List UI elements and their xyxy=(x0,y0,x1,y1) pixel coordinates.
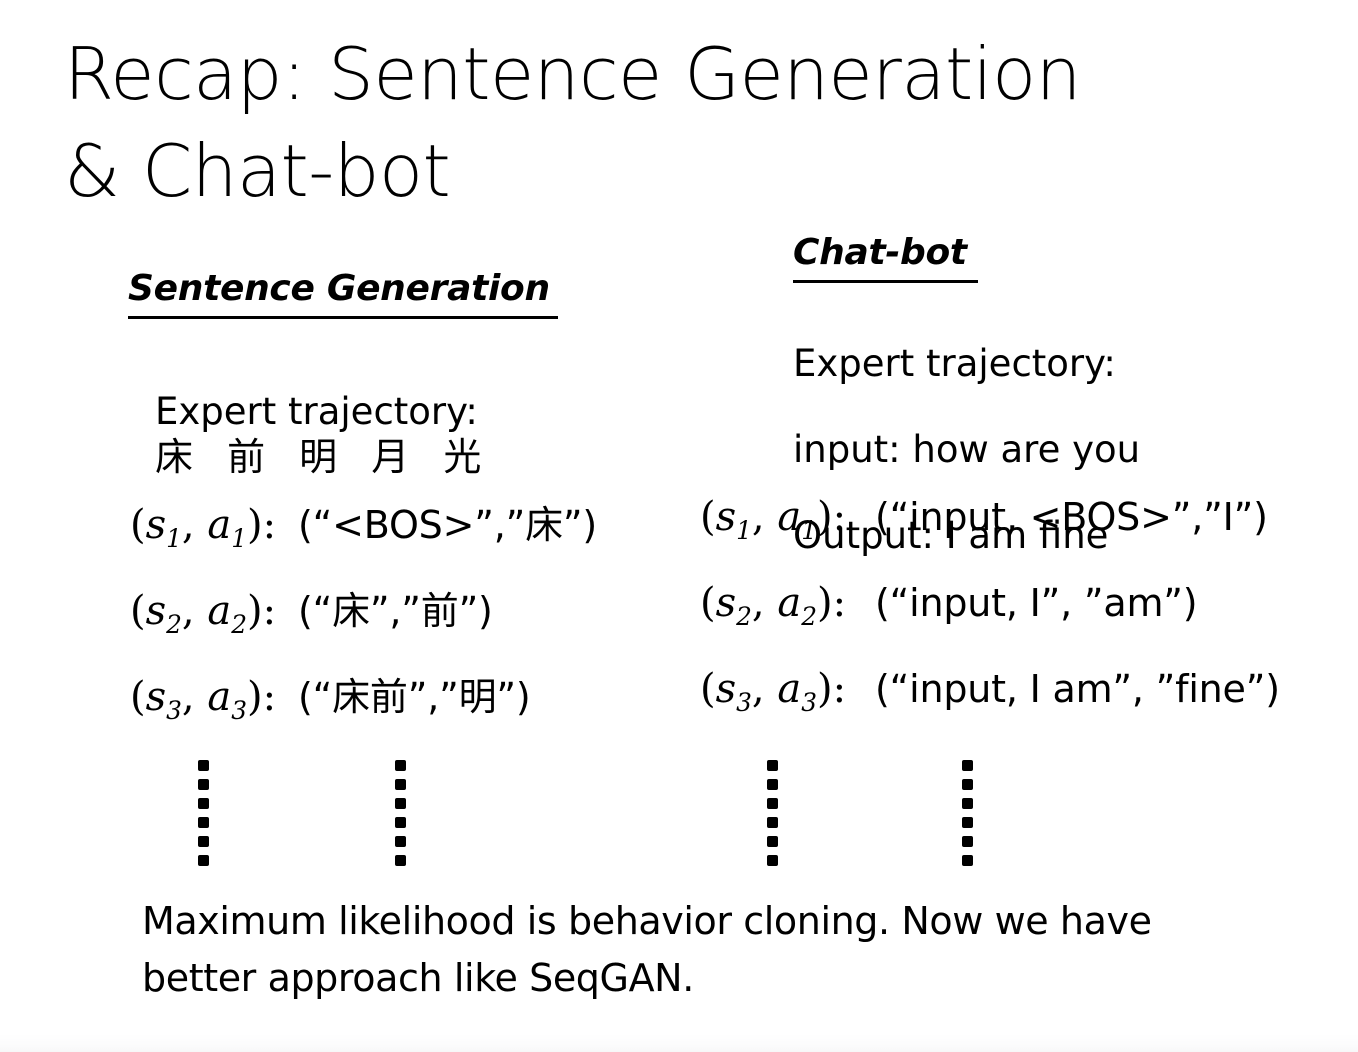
left-pair-value-3: (“床前”,”明”) xyxy=(298,666,530,721)
section-heading-sentence-generation: Sentence Generation xyxy=(128,268,558,319)
right-state-action-list: (s1, a1): (“input, <BOS>”,”I”) (s2, a2):… xyxy=(700,494,1280,752)
table-row: (s2, a2): (“床”,”前”) xyxy=(130,580,597,666)
left-pair-value-1: (“<BOS>”,”床”) xyxy=(298,494,597,549)
left-pair-label-1: (s1, a1): xyxy=(130,502,298,553)
left-trajectory-text: 床 前 明 月 光 xyxy=(155,434,655,482)
table-row: (s3, a3): (“床前”,”明”) xyxy=(130,666,597,752)
table-row: (s1, a1): (“input, <BOS>”,”I”) xyxy=(700,494,1280,580)
footer-note: Maximum likelihood is behavior cloning. … xyxy=(142,893,1272,1007)
vertical-ellipsis-icon xyxy=(395,760,406,866)
left-pair-label-2: (s2, a2): xyxy=(130,588,298,639)
table-row: (s2, a2): (“input, I”, ”am”) xyxy=(700,580,1280,666)
section-heading-chat-bot: Chat-bot xyxy=(793,232,978,283)
right-pair-value-2: (“input, I”, ”am”) xyxy=(875,581,1197,625)
left-state-action-list: (s1, a1): (“<BOS>”,”床”) (s2, a2): (“床”,”… xyxy=(130,494,597,752)
slide-canvas: Recap: Sentence Generation & Chat-bot Se… xyxy=(0,0,1358,1052)
right-pair-label-1: (s1, a1): xyxy=(700,494,875,545)
right-trajectory-input: input: how are you xyxy=(793,429,1263,472)
left-trajectory-label: Expert trajectory: xyxy=(155,390,478,433)
vertical-ellipsis-icon xyxy=(767,760,778,866)
left-pair-value-2: (“床”,”前”) xyxy=(298,580,493,635)
right-pair-value-3: (“input, I am”, ”fine”) xyxy=(875,667,1280,711)
left-pair-label-3: (s3, a3): xyxy=(130,674,298,725)
slide-bottom-edge xyxy=(0,1034,1358,1052)
right-pair-value-1: (“input, <BOS>”,”I”) xyxy=(875,495,1268,539)
right-pair-label-3: (s3, a3): xyxy=(700,666,875,717)
vertical-ellipsis-icon xyxy=(962,760,973,866)
right-trajectory-label: Expert trajectory: xyxy=(793,343,1263,386)
right-pair-label-2: (s2, a2): xyxy=(700,580,875,631)
page-title: Recap: Sentence Generation & Chat-bot xyxy=(64,26,1244,220)
table-row: (s1, a1): (“<BOS>”,”床”) xyxy=(130,494,597,580)
table-row: (s3, a3): (“input, I am”, ”fine”) xyxy=(700,666,1280,752)
vertical-ellipsis-icon xyxy=(198,760,209,866)
